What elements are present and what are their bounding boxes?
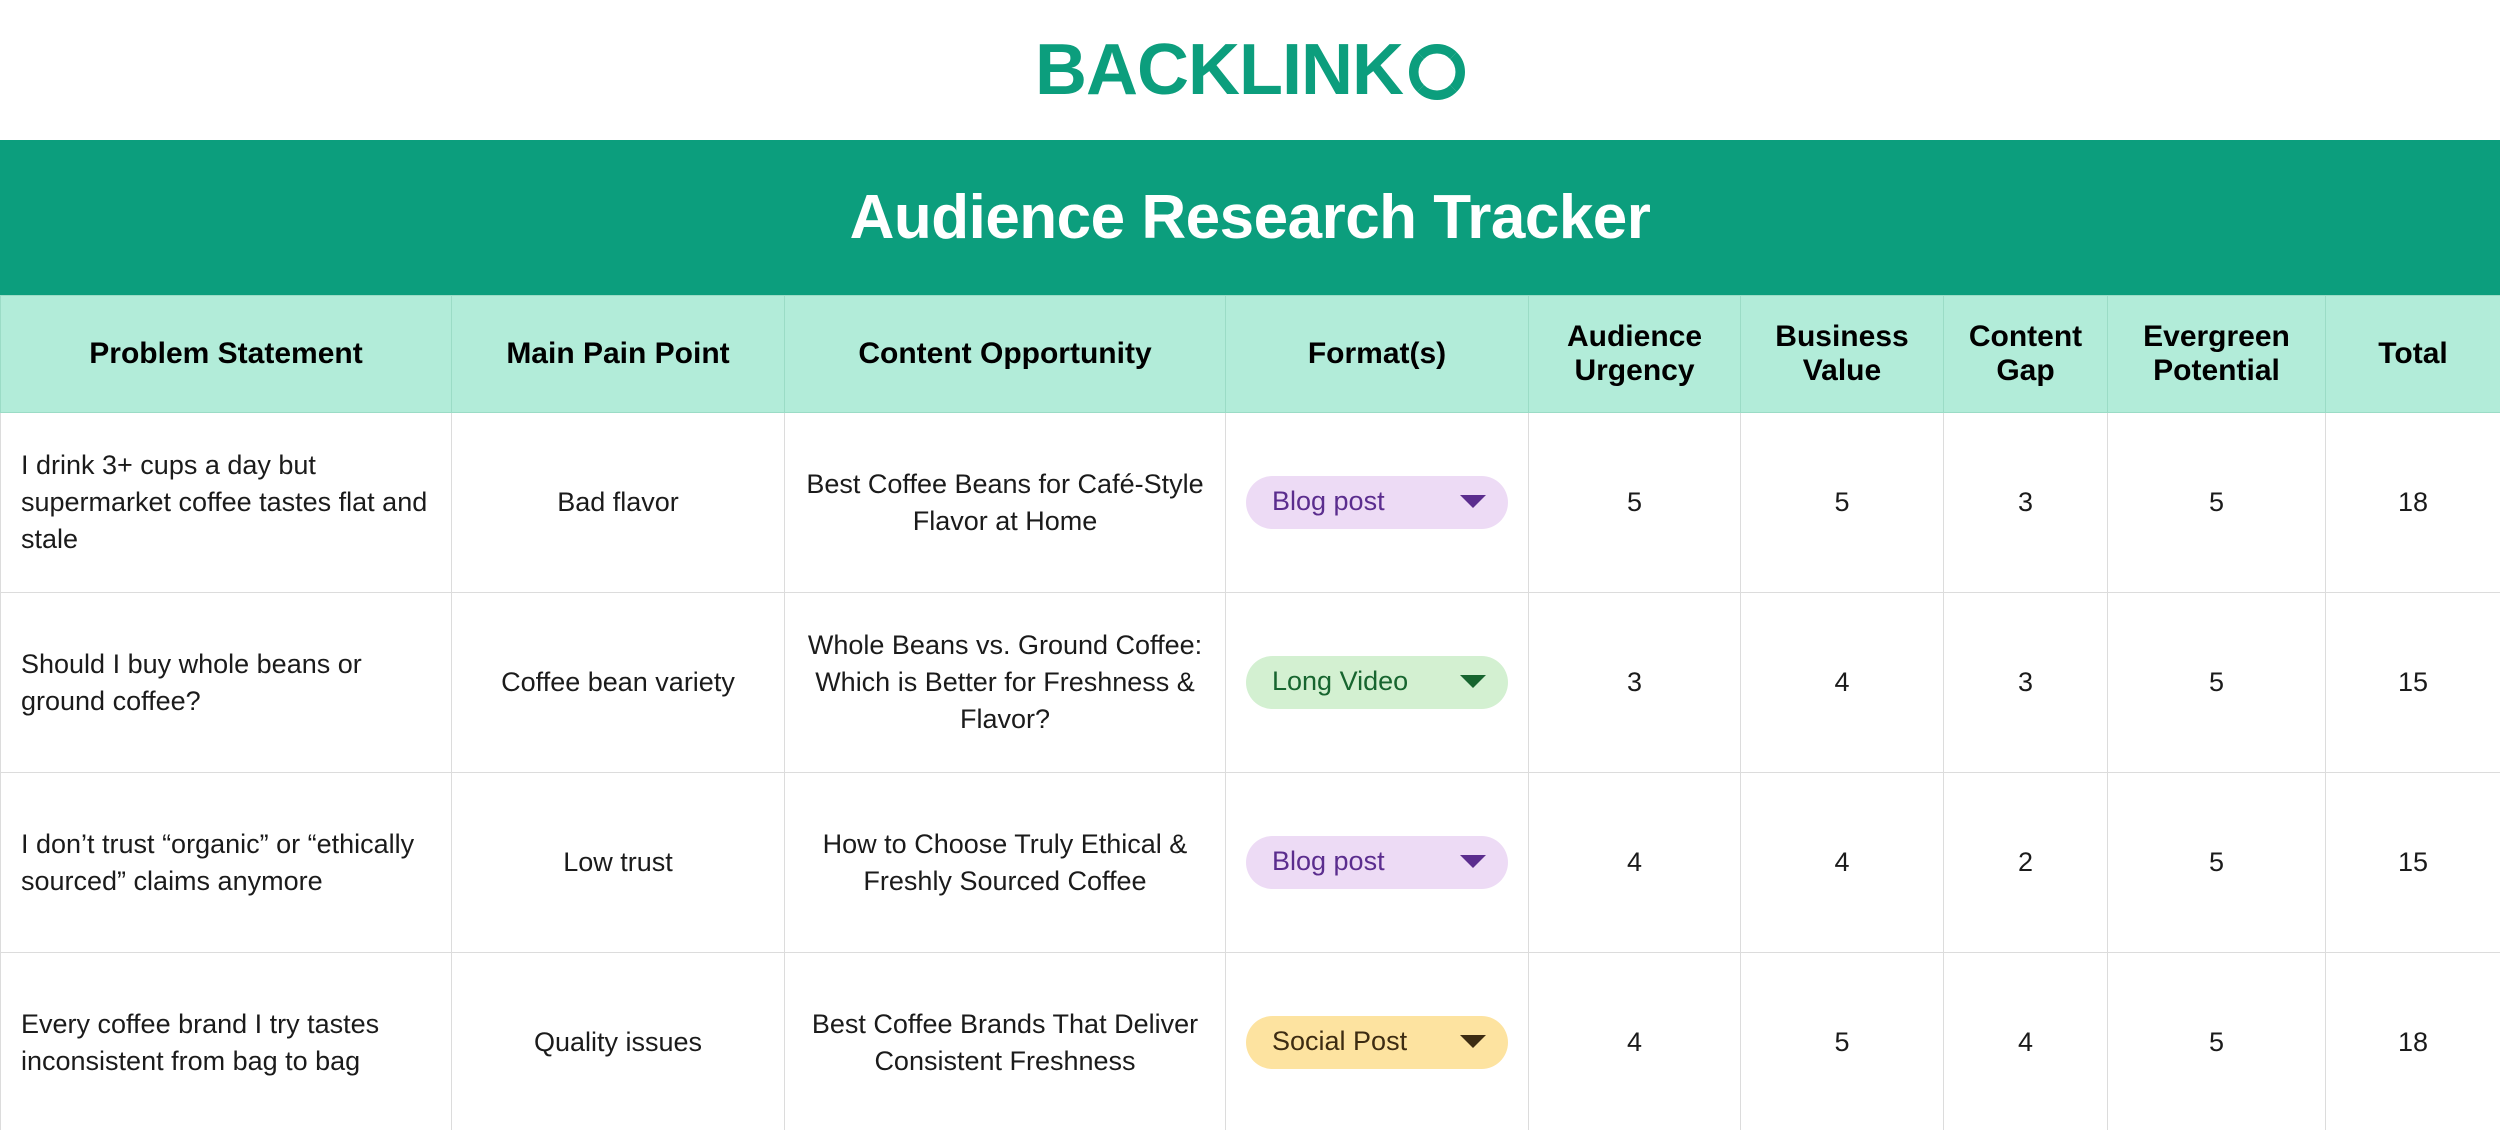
column-header-main-pain-point[interactable]: Main Pain Point [452, 296, 785, 413]
cell-format: Long Video [1226, 593, 1529, 773]
page-title-band: Audience Research Tracker [0, 140, 2500, 295]
chevron-down-icon [1460, 855, 1486, 868]
table-row: Every coffee brand I try tastes inconsis… [1, 953, 2500, 1130]
cell-audience-urgency[interactable]: 5 [1529, 413, 1741, 593]
cell-audience-urgency[interactable]: 4 [1529, 773, 1741, 953]
format-chip-label: Blog post [1272, 845, 1385, 877]
cell-problem-statement[interactable]: I don’t trust “organic” or “ethically so… [1, 773, 452, 953]
format-dropdown-chip[interactable]: Blog post [1246, 836, 1508, 888]
cell-evergreen-potential[interactable]: 5 [2108, 953, 2326, 1130]
cell-total[interactable]: 18 [2326, 413, 2500, 593]
cell-business-value[interactable]: 4 [1741, 593, 1944, 773]
segmented-ring-icon [1409, 44, 1465, 100]
cell-content-opportunity[interactable]: Whole Beans vs. Ground Coffee: Which is … [785, 593, 1226, 773]
cell-evergreen-potential[interactable]: 5 [2108, 773, 2326, 953]
column-header-audience-urgency[interactable]: Audience Urgency [1529, 296, 1741, 413]
cell-main-pain-point[interactable]: Low trust [452, 773, 785, 953]
column-header-content-opportunity[interactable]: Content Opportunity [785, 296, 1226, 413]
column-header-evergreen-potential-line1: Evergreen [2143, 320, 2290, 353]
cell-business-value[interactable]: 5 [1741, 953, 1944, 1130]
cell-problem-statement[interactable]: Every coffee brand I try tastes inconsis… [1, 953, 452, 1130]
cell-main-pain-point[interactable]: Bad flavor [452, 413, 785, 593]
cell-main-pain-point[interactable]: Quality issues [452, 953, 785, 1130]
cell-evergreen-potential[interactable]: 5 [2108, 593, 2326, 773]
cell-format: Social Post [1226, 953, 1529, 1130]
cell-total[interactable]: 15 [2326, 773, 2500, 953]
table-row: Should I buy whole beans or ground coffe… [1, 593, 2500, 773]
cell-total[interactable]: 15 [2326, 593, 2500, 773]
format-chip-label: Blog post [1272, 485, 1385, 517]
format-chip-label: Social Post [1272, 1025, 1407, 1057]
cell-audience-urgency[interactable]: 4 [1529, 953, 1741, 1130]
cell-format: Blog post [1226, 773, 1529, 953]
column-header-audience-urgency-line1: Audience [1567, 320, 1702, 353]
cell-content-opportunity[interactable]: How to Choose Truly Ethical & Freshly So… [785, 773, 1226, 953]
table-body: I drink 3+ cups a day but supermarket co… [1, 413, 2500, 1130]
column-header-content-gap-line1: Content [1969, 320, 2082, 353]
cell-evergreen-potential[interactable]: 5 [2108, 413, 2326, 593]
cell-content-gap[interactable]: 2 [1944, 773, 2108, 953]
cell-audience-urgency[interactable]: 3 [1529, 593, 1741, 773]
cell-format: Blog post [1226, 413, 1529, 593]
cell-content-gap[interactable]: 3 [1944, 593, 2108, 773]
logo-wordmark: BACKLINK [1035, 34, 1403, 106]
chevron-down-icon [1460, 1035, 1486, 1048]
chevron-down-icon [1460, 675, 1486, 688]
cell-total[interactable]: 18 [2326, 953, 2500, 1130]
table-header-row: Problem Statement Main Pain Point Conten… [1, 296, 2500, 413]
cell-problem-statement[interactable]: Should I buy whole beans or ground coffe… [1, 593, 452, 773]
table-row: I don’t trust “organic” or “ethically so… [1, 773, 2500, 953]
audience-research-table: Problem Statement Main Pain Point Conten… [0, 295, 2500, 1130]
column-header-problem-statement[interactable]: Problem Statement [1, 296, 452, 413]
column-header-business-value-line2: Value [1803, 354, 1881, 387]
format-chip-label: Long Video [1272, 665, 1408, 697]
column-header-business-value[interactable]: Business Value [1741, 296, 1944, 413]
table-row: I drink 3+ cups a day but supermarket co… [1, 413, 2500, 593]
cell-content-gap[interactable]: 3 [1944, 413, 2108, 593]
page-title: Audience Research Tracker [850, 187, 1651, 249]
cell-business-value[interactable]: 4 [1741, 773, 1944, 953]
cell-content-opportunity[interactable]: Best Coffee Brands That Deliver Consiste… [785, 953, 1226, 1130]
cell-content-opportunity[interactable]: Best Coffee Beans for Café-Style Flavor … [785, 413, 1226, 593]
brand-header: BACKLINK [0, 0, 2500, 140]
column-header-evergreen-potential[interactable]: Evergreen Potential [2108, 296, 2326, 413]
column-header-total[interactable]: Total [2326, 296, 2500, 413]
cell-problem-statement[interactable]: I drink 3+ cups a day but supermarket co… [1, 413, 452, 593]
column-header-content-gap-line2: Gap [1996, 354, 2054, 387]
column-header-formats[interactable]: Format(s) [1226, 296, 1529, 413]
cell-business-value[interactable]: 5 [1741, 413, 1944, 593]
chevron-down-icon [1460, 495, 1486, 508]
column-header-evergreen-potential-line2: Potential [2153, 354, 2280, 387]
backlinko-logo[interactable]: BACKLINK [1035, 34, 1465, 106]
column-header-business-value-line1: Business [1775, 320, 1908, 353]
column-header-content-gap[interactable]: Content Gap [1944, 296, 2108, 413]
cell-content-gap[interactable]: 4 [1944, 953, 2108, 1130]
format-dropdown-chip[interactable]: Blog post [1246, 476, 1508, 528]
format-dropdown-chip[interactable]: Long Video [1246, 656, 1508, 708]
cell-main-pain-point[interactable]: Coffee bean variety [452, 593, 785, 773]
column-header-audience-urgency-line2: Urgency [1574, 354, 1694, 387]
format-dropdown-chip[interactable]: Social Post [1246, 1016, 1508, 1068]
